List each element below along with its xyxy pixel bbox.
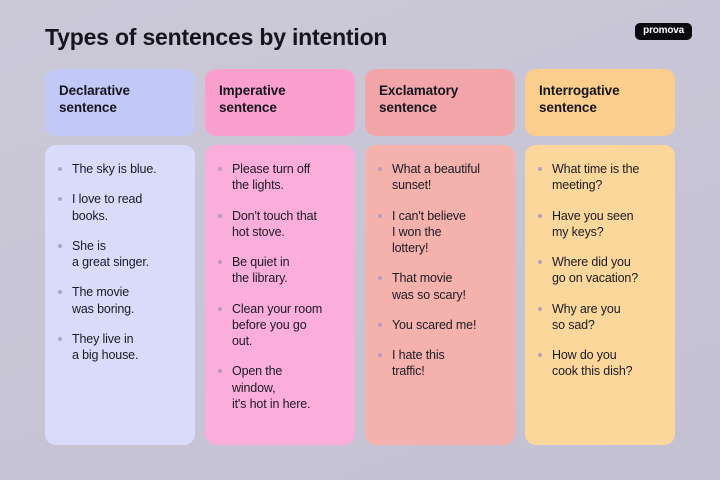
list-item-line: What time is the (552, 161, 663, 177)
list-item: Why are youso sad? (536, 301, 663, 334)
column-header-line: Imperative (219, 82, 341, 99)
list-item-line: The movie (72, 284, 183, 300)
column-header-line: Declarative (59, 82, 181, 99)
list-item: I hate thistraffic! (376, 347, 503, 380)
list-item: What a beautifulsunset! (376, 161, 503, 194)
column-header-imperative[interactable]: Imperativesentence (205, 69, 355, 136)
list-item-line: What a beautiful (392, 161, 503, 177)
list-item-line: before you go (232, 317, 343, 333)
list-item-line: the library. (232, 270, 343, 286)
column-imperative: ImperativesentencePlease turn offthe lig… (205, 69, 355, 445)
list-item-line: That movie (392, 270, 503, 286)
column-exclamatory: ExclamatorysentenceWhat a beautifulsunse… (365, 69, 515, 445)
list-item: She isa great singer. (56, 238, 183, 271)
column-header-line: sentence (539, 99, 661, 116)
column-interrogative: InterrogativesentenceWhat time is themee… (525, 69, 675, 445)
list-item-line: They live in (72, 331, 183, 347)
list-item-line: traffic! (392, 363, 503, 379)
list-item-line: a great singer. (72, 254, 183, 270)
list-item-line: my keys? (552, 224, 663, 240)
column-header-line: sentence (379, 99, 501, 116)
example-list: What time is themeeting?Have you seenmy … (536, 161, 663, 380)
list-item-line: Why are you (552, 301, 663, 317)
category-columns: DeclarativesentenceThe sky is blue.I lov… (45, 69, 675, 445)
list-item: They live ina big house. (56, 331, 183, 364)
list-item-line: was so scary! (392, 287, 503, 303)
column-declarative: DeclarativesentenceThe sky is blue.I lov… (45, 69, 195, 445)
list-item-line: out. (232, 333, 343, 349)
list-item: Please turn offthe lights. (216, 161, 343, 194)
list-item: You scared me! (376, 317, 503, 333)
list-item-line: Clean your room (232, 301, 343, 317)
list-item-line: Where did you (552, 254, 663, 270)
column-header-line: sentence (59, 99, 181, 116)
list-item-line: window, (232, 380, 343, 396)
list-item-line: Please turn off (232, 161, 343, 177)
list-item-line: I can't believe (392, 208, 503, 224)
list-item-line: go on vacation? (552, 270, 663, 286)
column-body-interrogative: What time is themeeting?Have you seenmy … (525, 145, 675, 445)
list-item-line: the lights. (232, 177, 343, 193)
list-item-line: I hate this (392, 347, 503, 363)
column-header-line: Interrogative (539, 82, 661, 99)
list-item-line: I love to read (72, 191, 183, 207)
list-item-line: meeting? (552, 177, 663, 193)
list-item: Open thewindow,it's hot in here. (216, 363, 343, 412)
list-item: That moviewas so scary! (376, 270, 503, 303)
list-item-line: You scared me! (392, 317, 503, 333)
column-header-declarative[interactable]: Declarativesentence (45, 69, 195, 136)
list-item: Have you seenmy keys? (536, 208, 663, 241)
list-item-line: How do you (552, 347, 663, 363)
example-list: The sky is blue.I love to readbooks.She … (56, 161, 183, 363)
page-title: Types of sentences by intention (45, 24, 387, 51)
list-item: The sky is blue. (56, 161, 183, 177)
list-item-line: a big house. (72, 347, 183, 363)
brand-logo: promova (635, 23, 692, 40)
list-item: Be quiet inthe library. (216, 254, 343, 287)
infographic-page: Types of sentences by intention promova … (0, 0, 720, 480)
column-body-exclamatory: What a beautifulsunset!I can't believeI … (365, 145, 515, 445)
list-item: How do youcook this dish? (536, 347, 663, 380)
column-header-exclamatory[interactable]: Exclamatorysentence (365, 69, 515, 136)
list-item-line: The sky is blue. (72, 161, 183, 177)
list-item-line: sunset! (392, 177, 503, 193)
list-item: The moviewas boring. (56, 284, 183, 317)
column-body-declarative: The sky is blue.I love to readbooks.She … (45, 145, 195, 445)
list-item: I love to readbooks. (56, 191, 183, 224)
list-item-line: lottery! (392, 240, 503, 256)
example-list: Please turn offthe lights.Don't touch th… (216, 161, 343, 412)
list-item-line: Be quiet in (232, 254, 343, 270)
list-item-line: hot stove. (232, 224, 343, 240)
list-item: What time is themeeting? (536, 161, 663, 194)
list-item-line: so sad? (552, 317, 663, 333)
column-body-imperative: Please turn offthe lights.Don't touch th… (205, 145, 355, 445)
list-item: Clean your roombefore you goout. (216, 301, 343, 350)
list-item-line: was boring. (72, 301, 183, 317)
list-item-line: Have you seen (552, 208, 663, 224)
column-header-line: Exclamatory (379, 82, 501, 99)
list-item-line: She is (72, 238, 183, 254)
list-item-line: cook this dish? (552, 363, 663, 379)
column-header-line: sentence (219, 99, 341, 116)
list-item-line: Open the (232, 363, 343, 379)
list-item-line: it's hot in here. (232, 396, 343, 412)
list-item: Don't touch thathot stove. (216, 208, 343, 241)
list-item-line: I won the (392, 224, 503, 240)
list-item-line: Don't touch that (232, 208, 343, 224)
list-item-line: books. (72, 208, 183, 224)
list-item: Where did yougo on vacation? (536, 254, 663, 287)
example-list: What a beautifulsunset!I can't believeI … (376, 161, 503, 380)
column-header-interrogative[interactable]: Interrogativesentence (525, 69, 675, 136)
list-item: I can't believeI won thelottery! (376, 208, 503, 257)
